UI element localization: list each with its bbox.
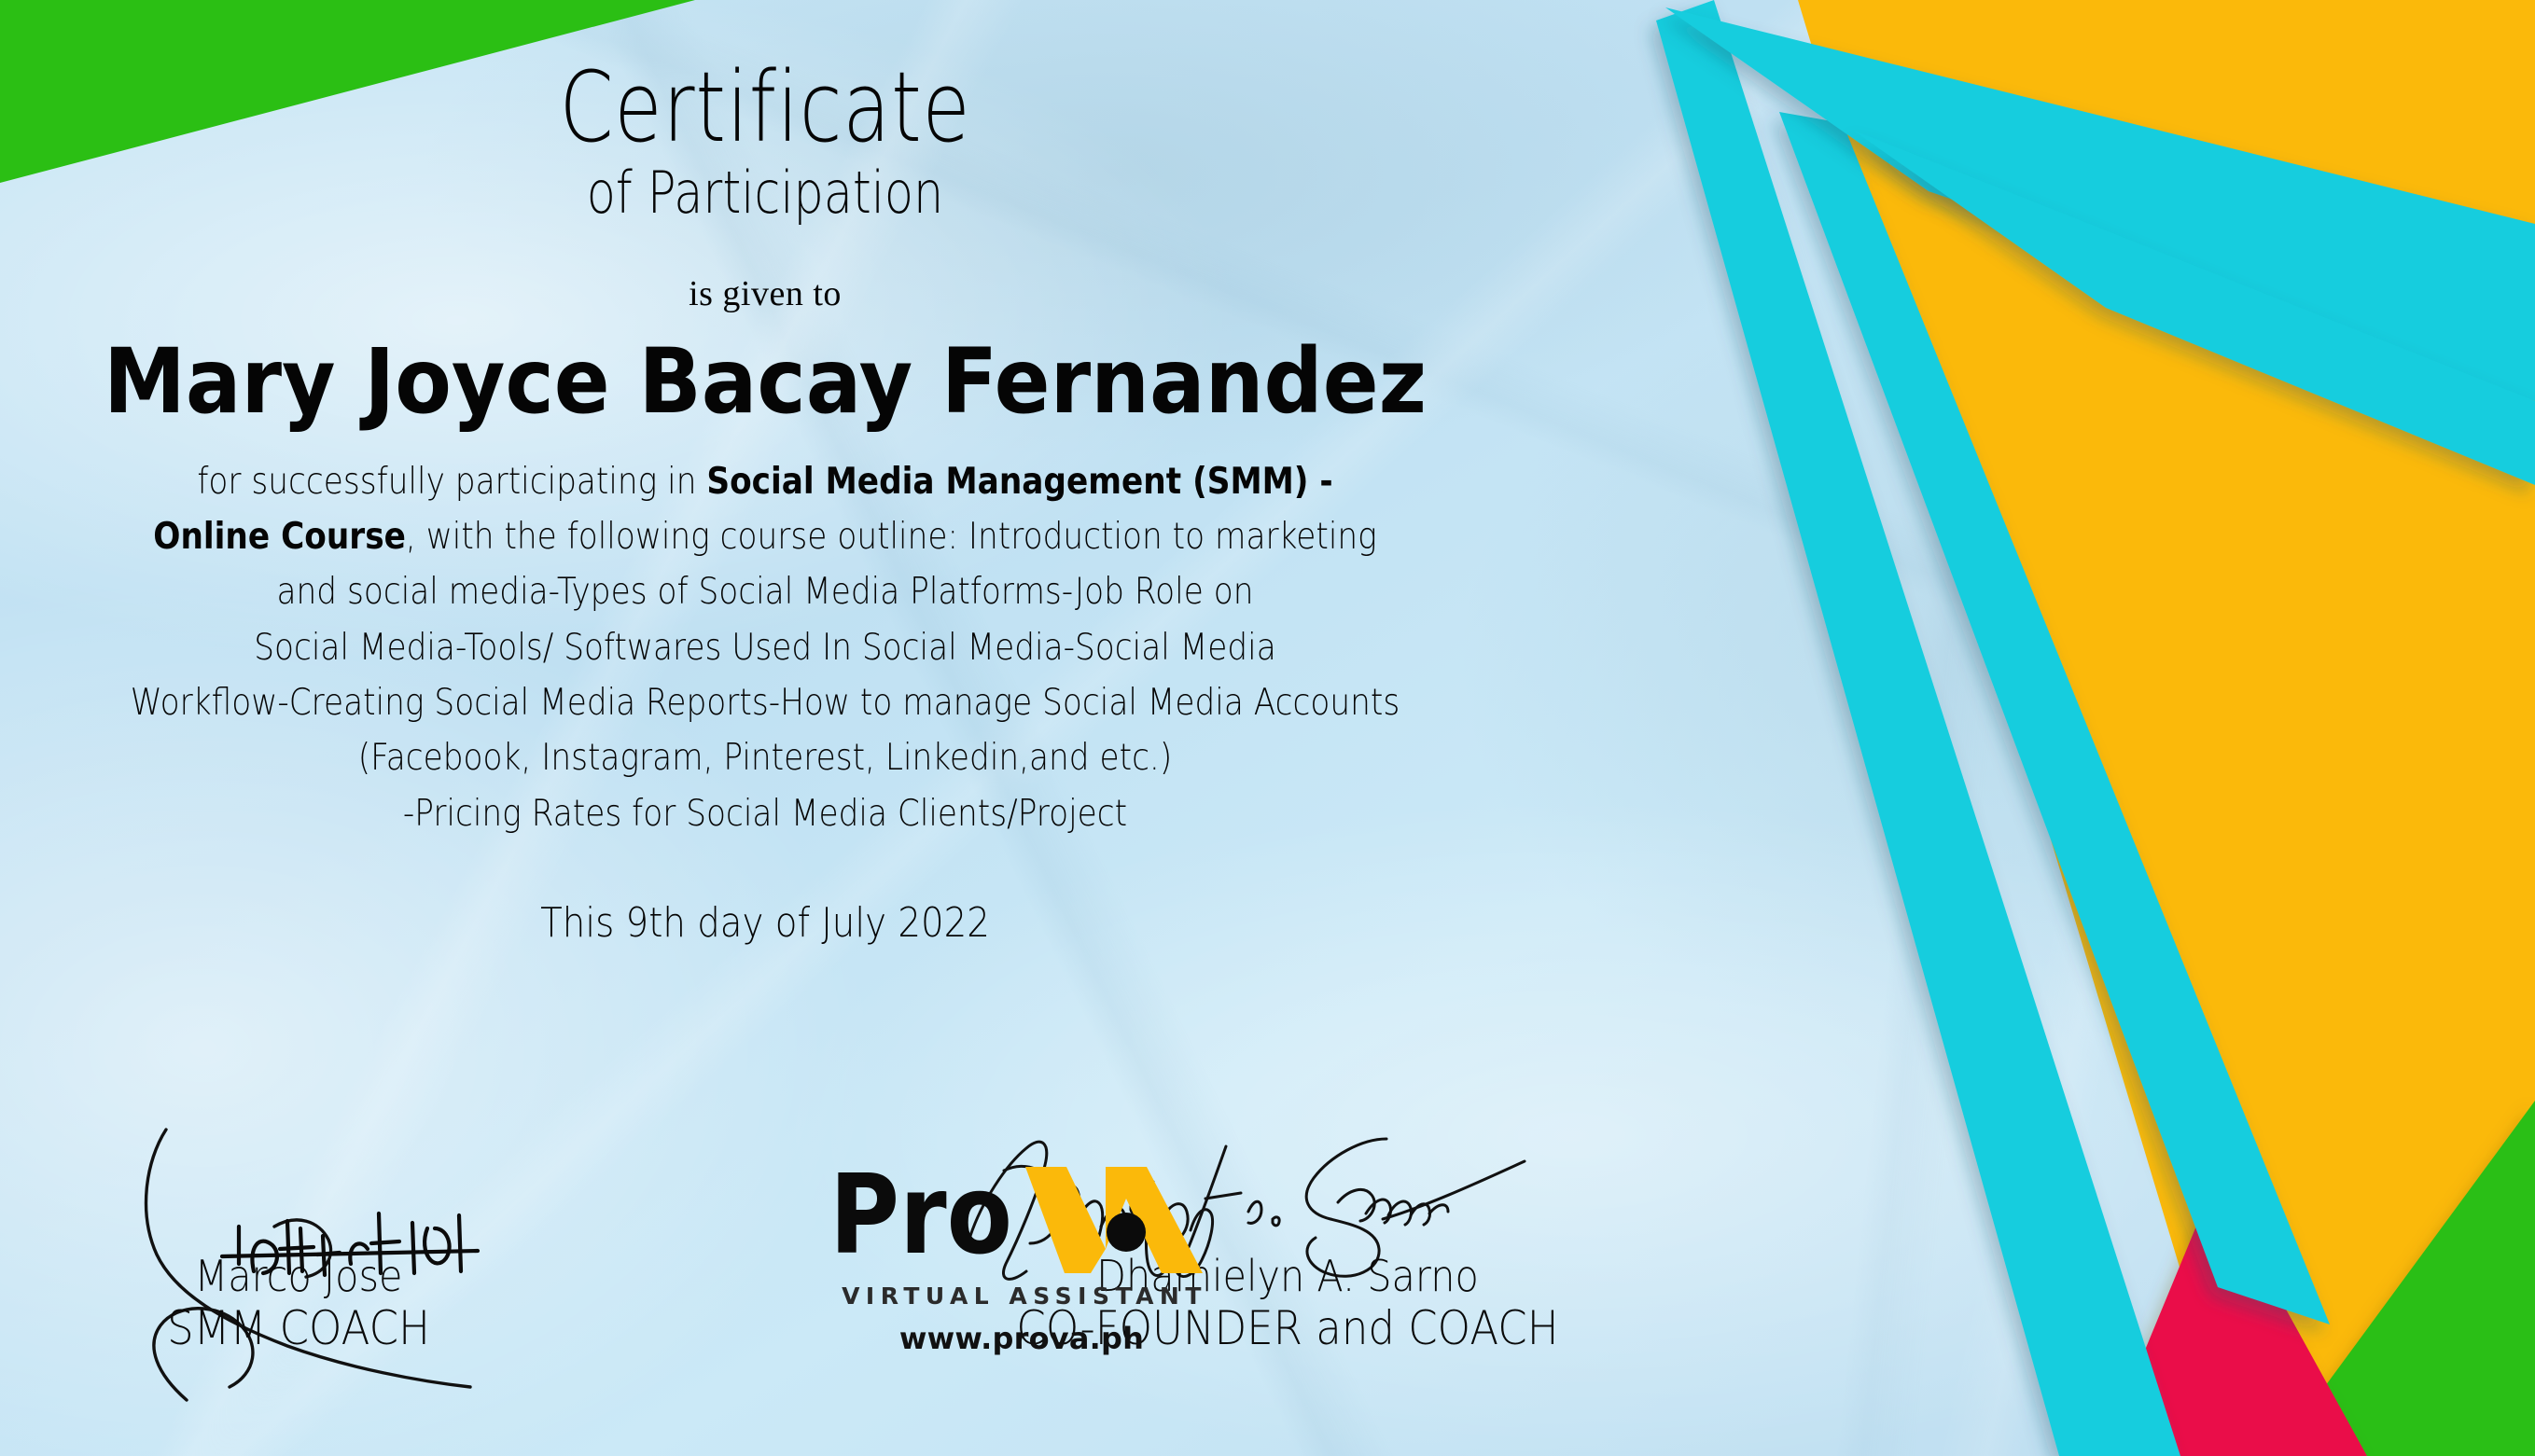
course-description-text: -Pricing Rates for Social Media Clients/… bbox=[403, 793, 1127, 835]
course-description-text: (Facebook, Instagram, Pinterest, Linkedi… bbox=[358, 737, 1173, 779]
logo-tagline: VIRTUAL ASSISTANT bbox=[826, 1283, 1218, 1310]
course-description-text: , with the following course outline: Int… bbox=[406, 516, 1377, 558]
course-description-text: Workflow-Creating Social Media Reports-H… bbox=[131, 682, 1400, 724]
signature-block-left: Marco Jose SMM COACH bbox=[37, 1251, 560, 1356]
course-description-emphasis: Social Media Management (SMM) - bbox=[706, 461, 1332, 503]
prova-logo: Pro VIRTUAL ASSISTANT www.prova.ph bbox=[826, 1159, 1218, 1356]
course-description-text: and social media-Types of Social Media P… bbox=[277, 571, 1254, 613]
course-description-text: Social Media-Tools/ Softwares Used In So… bbox=[254, 627, 1276, 669]
logo-wordmark: Pro bbox=[826, 1159, 1218, 1281]
course-description-line: Online Course, with the following course… bbox=[110, 509, 1420, 564]
course-description-text: for successfully participating in bbox=[197, 461, 706, 503]
course-description-line: Social Media-Tools/ Softwares Used In So… bbox=[110, 620, 1420, 675]
course-description-line: -Pricing Rates for Social Media Clients/… bbox=[110, 786, 1420, 841]
logo-word-pro: Pro bbox=[829, 1159, 1012, 1279]
signatory-role-left: SMM COACH bbox=[63, 1301, 534, 1356]
signatory-name-left: Marco Jose bbox=[63, 1251, 534, 1301]
page-title: Certificate bbox=[153, 58, 1377, 157]
course-description-line: (Facebook, Instagram, Pinterest, Linkedi… bbox=[110, 730, 1420, 785]
course-description-emphasis: Online Course bbox=[153, 516, 406, 558]
recipient-name: Mary Joyce Bacay Fernandez bbox=[62, 335, 1469, 430]
date-line: This 9th day of July 2022 bbox=[91, 899, 1438, 947]
course-description-block: for successfully participating in Social… bbox=[91, 454, 1438, 841]
given-to-label: is given to bbox=[0, 273, 1530, 314]
course-description-line: Workflow-Creating Social Media Reports-H… bbox=[110, 675, 1420, 730]
page-subtitle: of Participation bbox=[138, 162, 1393, 223]
logo-url: www.prova.ph bbox=[826, 1321, 1218, 1356]
signature-row: Marco Jose SMM COACH Dhamielyn A. Sarno … bbox=[0, 1133, 2535, 1456]
logo-mark-svg: Pro bbox=[826, 1159, 1218, 1281]
logo-letter-v bbox=[1025, 1167, 1106, 1273]
logo-dot bbox=[1107, 1213, 1146, 1252]
course-description-line: and social media-Types of Social Media P… bbox=[110, 564, 1420, 619]
certificate-canvas: Certificate of Participation is given to… bbox=[0, 0, 2535, 1456]
course-description-line: for successfully participating in Social… bbox=[110, 454, 1420, 509]
